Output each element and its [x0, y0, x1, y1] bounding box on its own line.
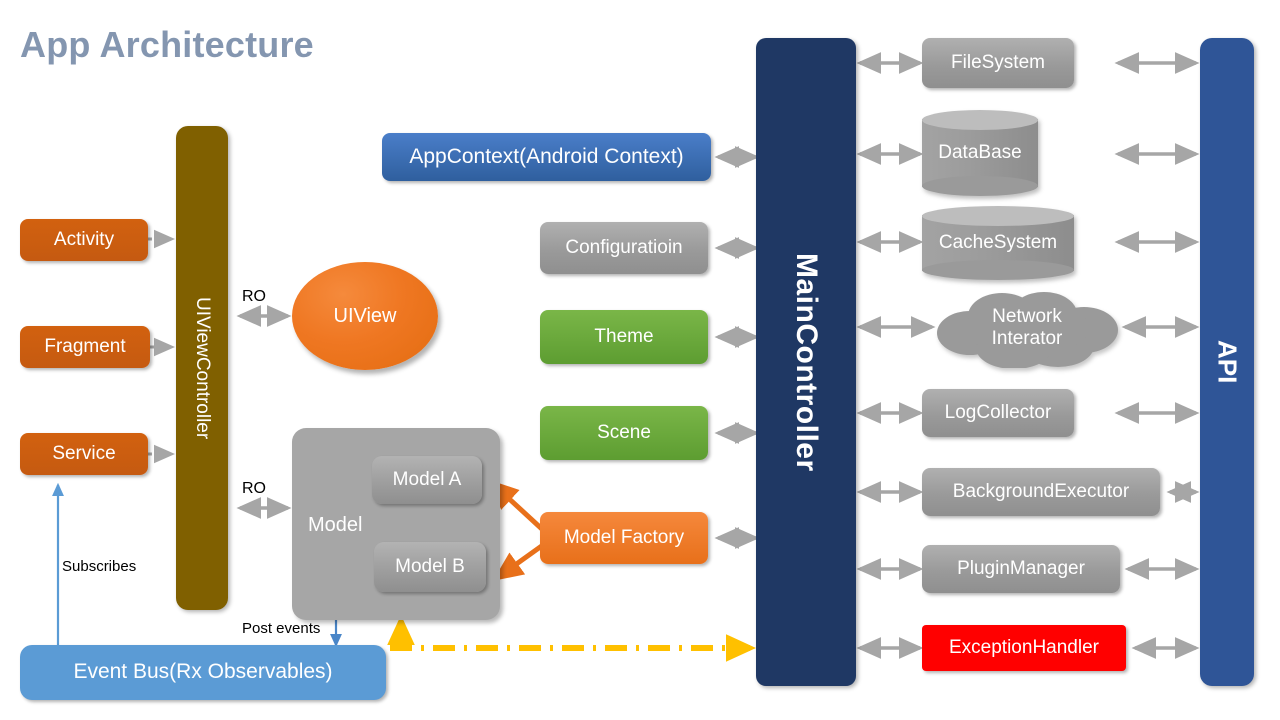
node-maincontroller-label: MainController — [789, 253, 823, 472]
event-bus-to-maincontroller-line — [390, 621, 750, 648]
center-to-maincontroller-arrows — [718, 157, 756, 538]
node-event-bus-label: Event Bus(Rx Observables) — [73, 660, 332, 684]
right-to-api-arrows — [1118, 63, 1196, 648]
node-model-container[interactable]: Model Model A Model B — [292, 428, 500, 620]
node-cachesystem-label: CacheSystem — [922, 206, 1074, 280]
node-filesystem-label: FileSystem — [951, 52, 1045, 74]
node-backgroundexecutor[interactable]: BackgroundExecutor — [922, 468, 1160, 516]
label-ro-model: RO — [242, 480, 266, 498]
node-logcollector[interactable]: LogCollector — [922, 389, 1074, 437]
node-network-interator-label: Network Interator — [928, 288, 1126, 368]
node-network-line1: Network — [992, 306, 1062, 328]
node-filesystem[interactable]: FileSystem — [922, 38, 1074, 88]
label-subscribes: Subscribes — [62, 558, 136, 575]
node-service-label: Service — [52, 443, 115, 465]
node-model-b-label: Model B — [395, 556, 465, 578]
node-api-label: API — [1212, 340, 1243, 383]
node-uiview[interactable]: UIView — [292, 262, 438, 370]
page-title: App Architecture — [20, 24, 314, 66]
node-theme[interactable]: Theme — [540, 310, 708, 364]
node-service[interactable]: Service — [20, 433, 148, 475]
node-model-factory-label: Model Factory — [564, 527, 684, 549]
node-configuration[interactable]: Configuratioin — [540, 222, 708, 274]
node-api[interactable]: API — [1200, 38, 1254, 686]
node-appcontext-label: AppContext(Android Context) — [409, 145, 683, 169]
node-activity[interactable]: Activity — [20, 219, 148, 261]
node-uiview-label: UIView — [334, 305, 397, 328]
node-scene[interactable]: Scene — [540, 406, 708, 460]
node-model-factory[interactable]: Model Factory — [540, 512, 708, 564]
label-post-events: Post events — [242, 620, 320, 637]
node-appcontext[interactable]: AppContext(Android Context) — [382, 133, 711, 181]
node-logcollector-label: LogCollector — [945, 402, 1052, 424]
node-pluginmanager-label: PluginManager — [957, 558, 1085, 580]
node-fragment-label: Fragment — [44, 336, 125, 358]
node-cachesystem[interactable]: CacheSystem — [922, 206, 1074, 280]
entry-to-controller-arrows — [148, 239, 172, 454]
node-model-b[interactable]: Model B — [374, 542, 486, 592]
node-database[interactable]: DataBase — [922, 110, 1038, 196]
label-ro-view: RO — [242, 288, 266, 306]
node-configuration-label: Configuratioin — [565, 237, 682, 259]
node-exceptionhandler-label: ExceptionHandler — [949, 637, 1099, 659]
node-model-a[interactable]: Model A — [372, 456, 482, 504]
node-uiviewcontroller[interactable]: UIViewController — [176, 126, 228, 610]
node-network-interator[interactable]: Network Interator — [928, 288, 1126, 368]
node-activity-label: Activity — [54, 229, 114, 251]
node-fragment[interactable]: Fragment — [20, 326, 150, 368]
node-exceptionhandler[interactable]: ExceptionHandler — [922, 625, 1126, 671]
node-network-line2: Interator — [992, 328, 1063, 350]
node-theme-label: Theme — [594, 326, 653, 348]
node-uiviewcontroller-label: UIViewController — [191, 297, 213, 439]
node-scene-label: Scene — [597, 422, 651, 444]
node-maincontroller[interactable]: MainController — [756, 38, 856, 686]
node-event-bus[interactable]: Event Bus(Rx Observables) — [20, 645, 386, 700]
diagram-canvas: App Architecture — [0, 0, 1280, 720]
node-model-label: Model — [308, 514, 362, 537]
node-pluginmanager[interactable]: PluginManager — [922, 545, 1120, 593]
node-backgroundexecutor-label: BackgroundExecutor — [953, 481, 1129, 503]
node-database-label: DataBase — [922, 110, 1038, 196]
node-model-a-label: Model A — [393, 469, 462, 491]
